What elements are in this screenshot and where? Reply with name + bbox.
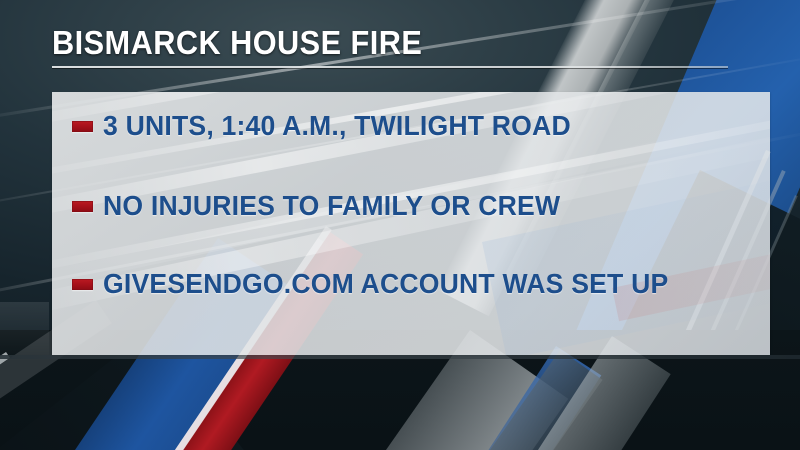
list-item: 3 UNITS, 1:40 A.M., TWILIGHT ROAD [72,110,595,142]
panel-bottom-edge [0,355,800,359]
list-item-label: GIVESENDGO.COM ACCOUNT WAS SET UP [103,268,668,300]
left-accent-block [0,92,49,355]
bullet-square-icon [72,201,93,212]
bullet-list: 3 UNITS, 1:40 A.M., TWILIGHT ROAD NO INJ… [52,92,770,355]
news-graphic-stage: BISMARCK HOUSE FIRE 3 UNITS, 1:40 A.M., … [0,0,800,450]
headline-block: BISMARCK HOUSE FIRE [52,24,742,68]
list-item-label: NO INJURIES TO FAMILY OR CREW [103,190,560,222]
title-underline-rule [52,66,728,68]
list-item: GIVESENDGO.COM ACCOUNT WAS SET UP [72,268,762,300]
list-item-label: 3 UNITS, 1:40 A.M., TWILIGHT ROAD [103,110,571,142]
list-item: NO INJURIES TO FAMILY OR CREW [72,190,584,222]
bullet-square-icon [72,279,93,290]
content-panel: 3 UNITS, 1:40 A.M., TWILIGHT ROAD NO INJ… [52,92,770,355]
bullet-square-icon [72,121,93,132]
page-title: BISMARCK HOUSE FIRE [52,24,694,62]
left-accent-sheen [0,302,49,362]
